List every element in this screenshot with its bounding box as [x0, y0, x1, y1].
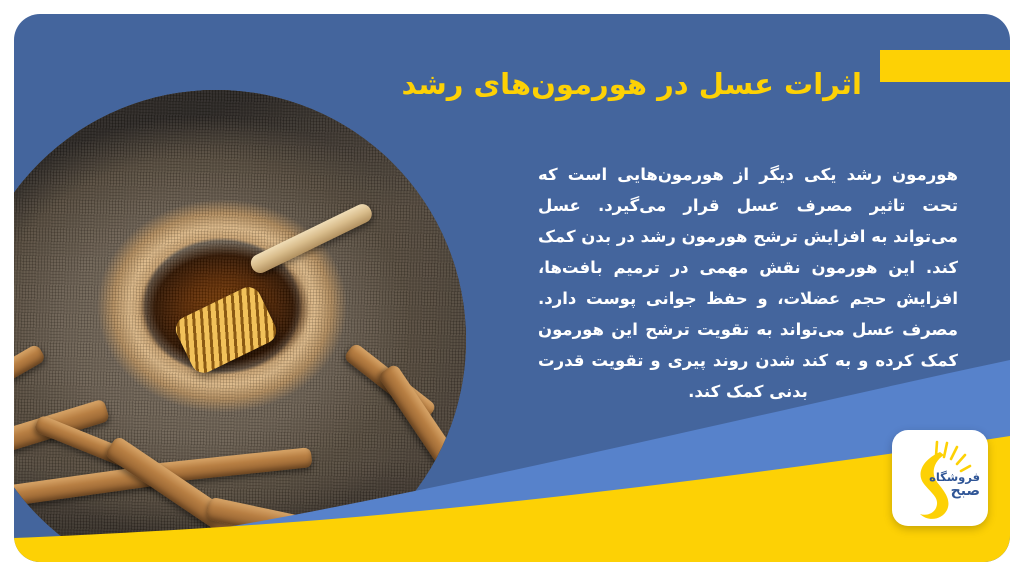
logo-line-1: فروشگاه [929, 472, 980, 484]
brand-logo-badge[interactable]: فروشگاه صبح [892, 430, 988, 526]
slide-canvas: اثرات عسل در هورمون‌های رشد هورمون رشد ی… [0, 0, 1024, 576]
title-accent-bar [880, 50, 1010, 82]
content-card: اثرات عسل در هورمون‌های رشد هورمون رشد ی… [14, 14, 1010, 562]
yellow-wave-decoration [14, 432, 1010, 562]
logo-line-2: صبح [929, 484, 980, 498]
logo-wordmark: فروشگاه صبح [929, 472, 980, 498]
body-paragraph: هورمون رشد یکی دیگر از هورمون‌هایی است ک… [538, 159, 958, 407]
page-title: اثرات عسل در هورمون‌های رشد [401, 61, 862, 107]
